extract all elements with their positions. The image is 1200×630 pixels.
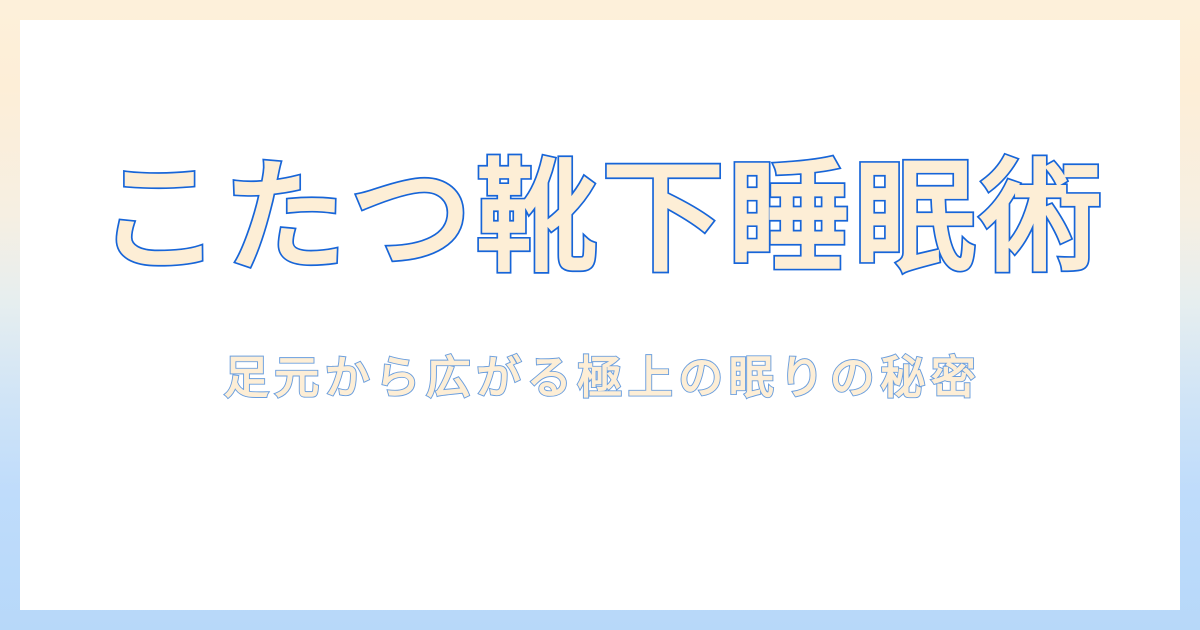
poster-title: こたつ靴下睡眠術: [94, 153, 1106, 285]
poster-white-card: こたつ靴下睡眠術 足元から広がる極上の眠りの秘密: [20, 20, 1180, 610]
poster-canvas: こたつ靴下睡眠術 足元から広がる極上の眠りの秘密: [0, 0, 1200, 630]
headline-block: こたつ靴下睡眠術 足元から広がる極上の眠りの秘密: [20, 20, 1180, 610]
poster-subtitle: 足元から広がる極上の眠りの秘密: [219, 353, 982, 403]
